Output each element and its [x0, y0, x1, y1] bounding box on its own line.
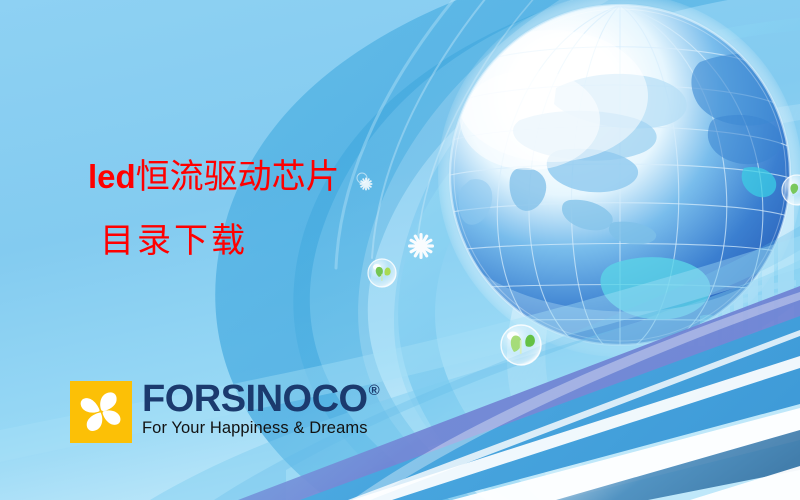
- registered-trademark-icon: ®: [369, 383, 380, 398]
- logo-wordmark-text: FORSINOCO: [142, 381, 368, 417]
- bubble-left: [368, 259, 396, 287]
- promo-banner: led恒流驱动芯片 目录下载 FORSINOCO ® For Your Happ…: [0, 0, 800, 500]
- logo-text-block: FORSINOCO ® For Your Happiness & Dreams: [142, 381, 379, 438]
- logo-tagline: For Your Happiness & Dreams: [142, 419, 379, 438]
- logo-mark: [70, 381, 132, 443]
- logo-wordmark: FORSINOCO ®: [142, 381, 379, 417]
- company-logo[interactable]: FORSINOCO ® For Your Happiness & Dreams: [70, 381, 379, 443]
- four-petal-pinwheel-icon: [70, 381, 132, 443]
- bubble-center: [501, 325, 541, 365]
